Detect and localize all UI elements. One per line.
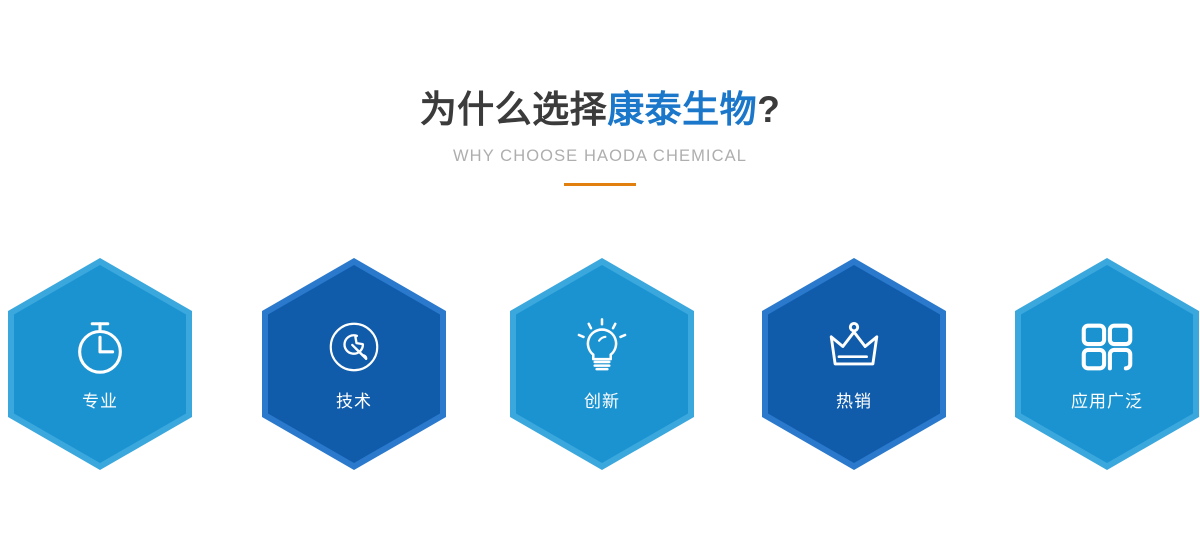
feature-label: 应用广泛 (1071, 392, 1143, 412)
feature-card-2[interactable]: 技术 (262, 258, 446, 470)
feature-hexagon-row: 专业 技术 (0, 258, 1200, 480)
feature-card-content: 专业 (8, 258, 192, 470)
feature-card-1[interactable]: 专业 (8, 258, 192, 470)
page-title-brand: 康泰生物 (607, 89, 757, 130)
lightbulb-icon (571, 316, 633, 378)
wrench-circle-icon (323, 316, 385, 378)
feature-card-4[interactable]: 热销 (762, 258, 946, 470)
feature-card-5[interactable]: 应用广泛 (1015, 258, 1199, 470)
feature-card-content: 技术 (262, 258, 446, 470)
feature-card-content: 热销 (762, 258, 946, 470)
section-header: 为什么选择康泰生物? WHY CHOOSE HAODA CHEMICAL (0, 86, 1200, 186)
feature-label: 创新 (584, 392, 620, 412)
page-title-suffix: ? (757, 89, 780, 130)
title-divider (564, 183, 636, 186)
page-title: 为什么选择康泰生物? (0, 86, 1200, 134)
grid-squares-icon (1076, 316, 1138, 378)
feature-card-content: 创新 (510, 258, 694, 470)
feature-card-content: 应用广泛 (1015, 258, 1199, 470)
feature-card-3[interactable]: 创新 (510, 258, 694, 470)
feature-label: 专业 (82, 392, 118, 412)
page-subtitle: WHY CHOOSE HAODA CHEMICAL (0, 145, 1200, 167)
crown-icon (823, 316, 885, 378)
page-title-prefix: 为什么选择 (420, 89, 608, 130)
stopwatch-icon (69, 316, 131, 378)
feature-label: 热销 (836, 392, 872, 412)
feature-label: 技术 (336, 392, 372, 412)
